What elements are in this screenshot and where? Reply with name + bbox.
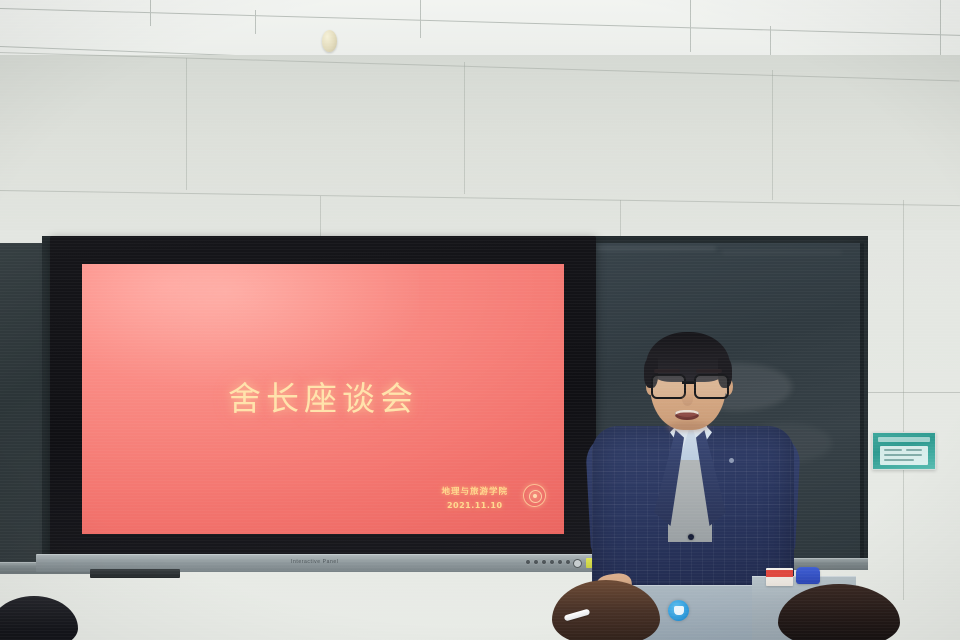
slide-organization: 地理与旅游学院: [441, 486, 508, 499]
presenter-chin-shadow: [666, 422, 710, 432]
lapel-pin-icon: [729, 458, 734, 463]
slide-title: 舍长座谈会: [82, 372, 564, 420]
chalkboard-divider: [860, 243, 864, 561]
board-eraser: [796, 567, 820, 584]
wall-upper: [0, 55, 960, 245]
presenter-mouth: [675, 410, 699, 420]
presenter-eyebrow-right: [696, 369, 722, 373]
presenter-eyebrow-left: [654, 369, 680, 373]
display-button[interactable]: [558, 560, 562, 564]
wall-seam: [464, 62, 465, 194]
presentation-slide[interactable]: 舍长座谈会 地理与旅游学院 2021.11.10: [82, 264, 564, 534]
wall-seam: [772, 70, 773, 200]
university-seal-icon: [523, 484, 546, 507]
student-hair: [0, 596, 78, 640]
display-button[interactable]: [566, 560, 570, 564]
classroom-scene: 舍长座谈会 地理与旅游学院 2021.11.10 Interactive Pan…: [0, 0, 960, 640]
display-stand: [90, 569, 180, 578]
safety-notice-sign: [872, 432, 936, 470]
display-button[interactable]: [534, 560, 538, 564]
display-button-group[interactable]: [526, 560, 570, 564]
display-brand-label: Interactive Panel: [291, 559, 338, 565]
student-hair: [778, 584, 900, 640]
wall-seam: [862, 392, 960, 393]
student-hair: [552, 580, 660, 640]
student-head-left-edge: [0, 596, 80, 640]
student-head-right: [778, 584, 902, 640]
ceiling-smoke-detector-icon: [322, 30, 337, 52]
display-button[interactable]: [542, 560, 546, 564]
jacket-button: [688, 534, 694, 540]
slide-date: 2021.11.10: [441, 499, 508, 512]
wall-seam: [186, 58, 187, 190]
presenter-nose: [682, 392, 693, 406]
wall-seam: [903, 200, 904, 600]
power-button-icon[interactable]: [573, 559, 582, 568]
slide-footer: 地理与旅游学院 2021.11.10: [441, 486, 508, 512]
student-head-center: [552, 580, 662, 640]
blue-round-sticker-icon: [668, 600, 689, 621]
screen-glare: [82, 264, 419, 386]
display-button[interactable]: [550, 560, 554, 564]
interactive-smart-board[interactable]: 舍长座谈会 地理与旅游学院 2021.11.10 Interactive Pan…: [50, 236, 596, 584]
display-button[interactable]: [526, 560, 530, 564]
